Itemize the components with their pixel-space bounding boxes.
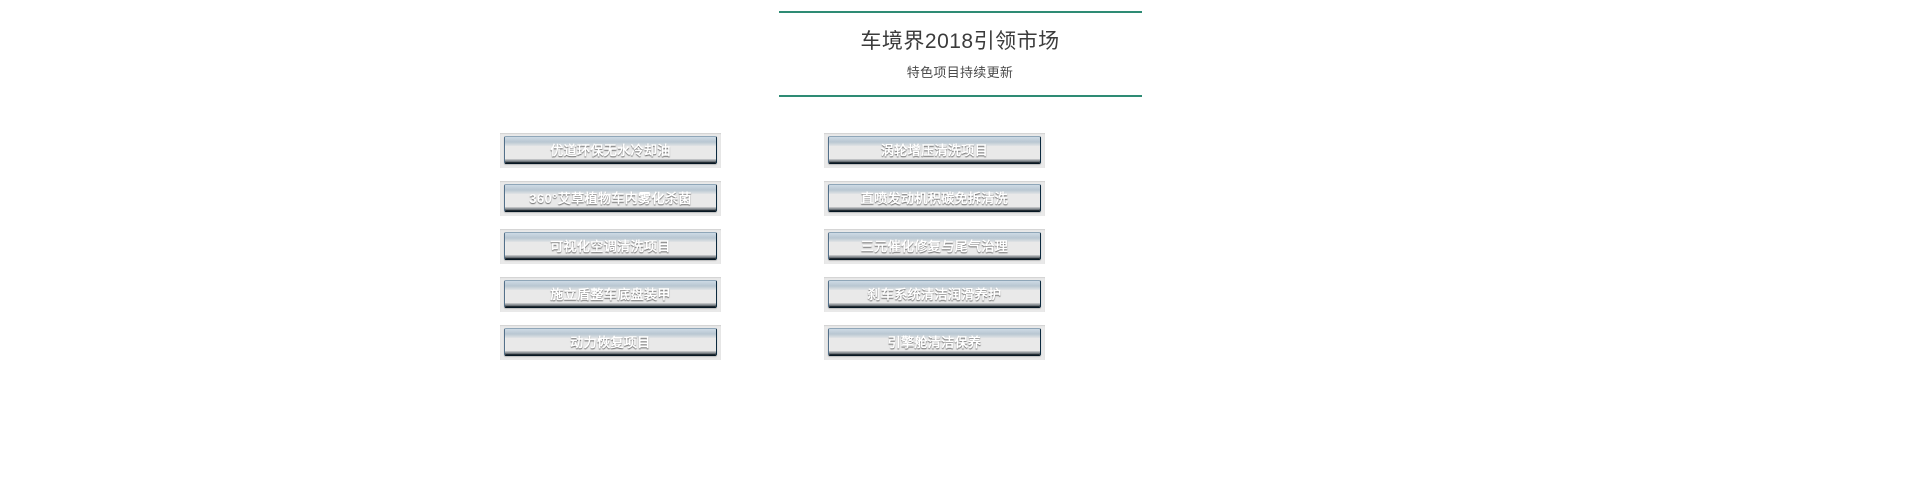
service-button-7-label: 直喷发动机积碳免拆清洗 xyxy=(861,192,1008,205)
service-button-2[interactable]: 360°艾草植物车内雾化杀菌 xyxy=(500,181,721,216)
page-title: 车境界2018引领市场 xyxy=(0,27,1920,57)
page-header: 车境界2018引领市场 特色项目持续更新 xyxy=(0,0,1920,97)
service-button-5[interactable]: 动力恢复项目 xyxy=(500,325,721,360)
service-button-5-label: 动力恢复项目 xyxy=(570,336,650,349)
service-button-8[interactable]: 三元催化修复与尾气治理 xyxy=(824,229,1045,264)
header-rule-top xyxy=(779,11,1142,13)
service-button-8-surface[interactable]: 三元催化修复与尾气治理 xyxy=(828,232,1041,260)
service-button-2-surface[interactable]: 360°艾草植物车内雾化杀菌 xyxy=(504,184,717,212)
service-button-3-surface[interactable]: 可视化空调清洗项目 xyxy=(504,232,717,260)
service-button-2-label: 360°艾草植物车内雾化杀菌 xyxy=(529,192,692,205)
service-button-10[interactable]: 引擎舱清洁保养 xyxy=(824,325,1045,360)
service-button-6-surface[interactable]: 涡轮增压清洗项目 xyxy=(828,136,1041,164)
service-button-6[interactable]: 涡轮增压清洗项目 xyxy=(824,133,1045,168)
service-button-9-label: 刹车系统清洁润滑养护 xyxy=(867,288,1001,301)
service-button-5-surface[interactable]: 动力恢复项目 xyxy=(504,328,717,356)
header-rule-bottom xyxy=(779,95,1142,97)
service-button-4-label: 施立盾整车底盘装甲 xyxy=(550,288,671,301)
service-button-3[interactable]: 可视化空调清洗项目 xyxy=(500,229,721,264)
service-column-left: 优道环保无水冷却油 360°艾草植物车内雾化杀菌 可视化空调清洗项目 施立盾整车… xyxy=(500,133,721,373)
service-button-7[interactable]: 直喷发动机积碳免拆清洗 xyxy=(824,181,1045,216)
service-button-3-label: 可视化空调清洗项目 xyxy=(550,240,671,253)
service-button-9-surface[interactable]: 刹车系统清洁润滑养护 xyxy=(828,280,1041,308)
service-button-9[interactable]: 刹车系统清洁润滑养护 xyxy=(824,277,1045,312)
service-button-1-label: 优道环保无水冷却油 xyxy=(550,144,671,157)
service-button-10-surface[interactable]: 引擎舱清洁保养 xyxy=(828,328,1041,356)
page-subtitle: 特色项目持续更新 xyxy=(0,63,1920,83)
service-button-1-surface[interactable]: 优道环保无水冷却油 xyxy=(504,136,717,164)
service-column-right: 涡轮增压清洗项目 直喷发动机积碳免拆清洗 三元催化修复与尾气治理 刹车系统清洁润… xyxy=(824,133,1045,373)
service-button-1[interactable]: 优道环保无水冷却油 xyxy=(500,133,721,168)
service-button-4[interactable]: 施立盾整车底盘装甲 xyxy=(500,277,721,312)
service-button-4-surface[interactable]: 施立盾整车底盘装甲 xyxy=(504,280,717,308)
service-button-7-surface[interactable]: 直喷发动机积碳免拆清洗 xyxy=(828,184,1041,212)
service-button-10-label: 引擎舱清洁保养 xyxy=(888,336,982,349)
service-button-8-label: 三元催化修复与尾气治理 xyxy=(861,240,1008,253)
service-button-6-label: 涡轮增压清洗项目 xyxy=(881,144,988,157)
